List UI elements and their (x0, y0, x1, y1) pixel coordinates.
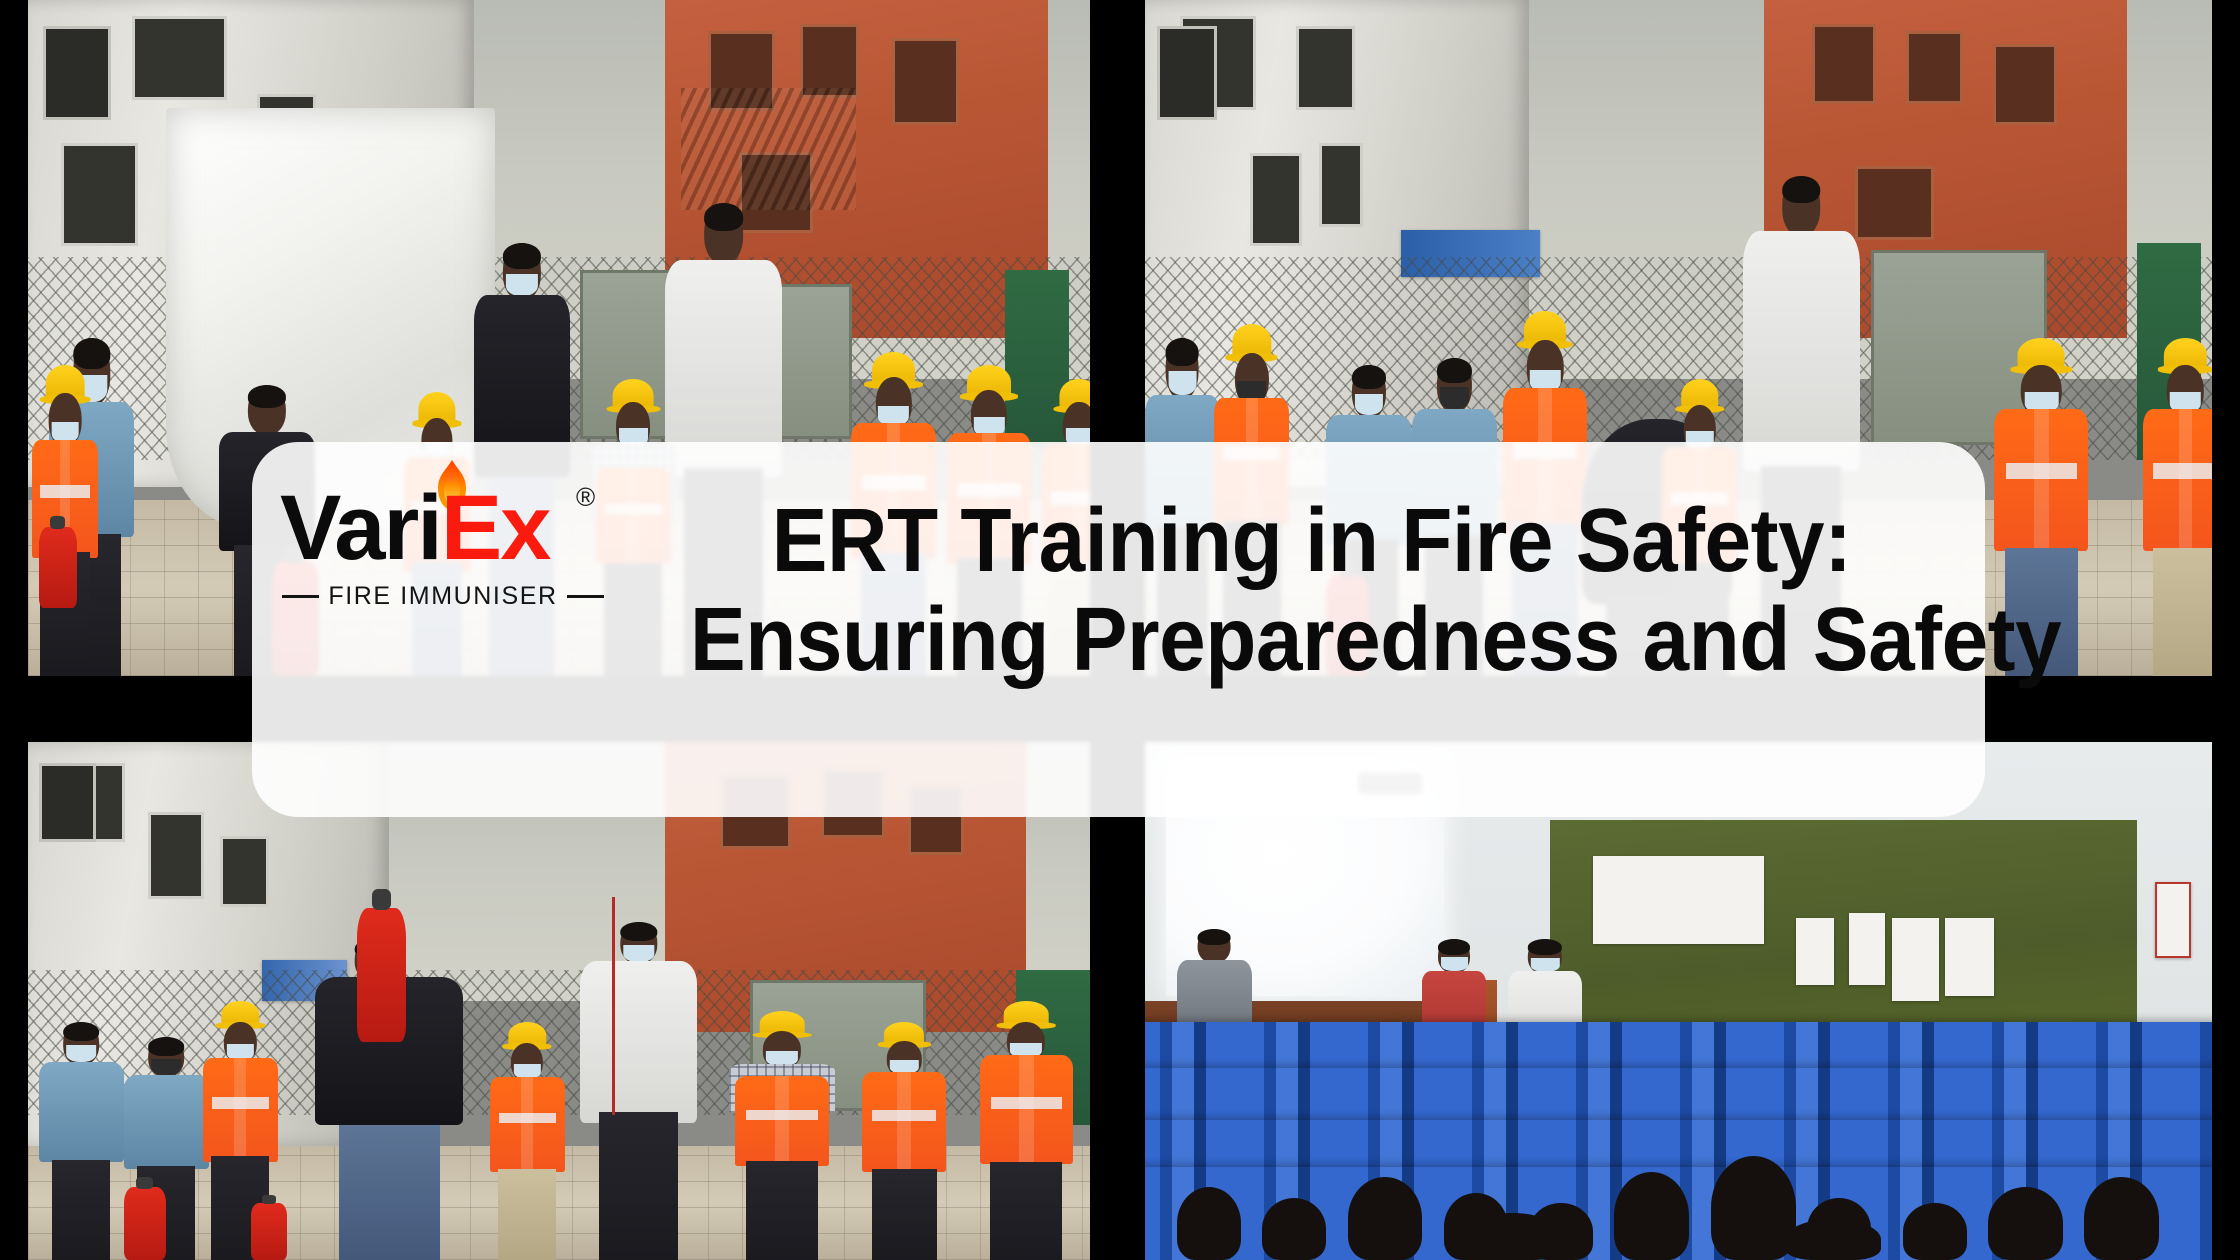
person (973, 1001, 1079, 1260)
title-card: VariEx ® FIRE IMMUNISER ERT Training in … (252, 442, 1985, 817)
person (2137, 338, 2212, 676)
wall-poster (1796, 918, 1834, 985)
person-instructor-raised-arm (580, 908, 697, 1260)
wall-poster (1945, 918, 1994, 996)
audience-head (1348, 1177, 1423, 1260)
audience-head (1262, 1198, 1326, 1260)
person (729, 1011, 835, 1260)
mic-cable (612, 897, 615, 1115)
tagline-rule-left (282, 595, 319, 598)
wall-poster (1849, 913, 1885, 986)
photo-bottom-right (1145, 742, 2212, 1260)
audience-head (1465, 1213, 1561, 1260)
audience-head (1903, 1203, 1967, 1260)
logo-tagline: FIRE IMMUNISER (282, 582, 604, 611)
framed-certificate (2155, 882, 2191, 959)
wall-poster (1593, 856, 1764, 944)
headline-line-1: ERT Training in Fire Safety: (690, 492, 1909, 591)
fire-extinguisher (124, 1187, 166, 1260)
audience-head (2084, 1177, 2159, 1260)
fire-extinguisher (251, 1203, 287, 1260)
banner-root: VariEx ® FIRE IMMUNISER ERT Training in … (0, 0, 2240, 1260)
fire-extinguisher (39, 527, 77, 608)
tagline-rule-right (567, 595, 604, 598)
person (856, 1022, 952, 1260)
person (485, 1022, 570, 1260)
audience-head (1711, 1156, 1796, 1260)
audience-head (1988, 1187, 2063, 1260)
person (39, 1022, 124, 1260)
tagline-text: FIRE IMMUNISER (328, 582, 557, 611)
audience-head (1614, 1172, 1689, 1260)
fire-extinguisher-held (357, 908, 406, 1043)
logo-text-vari: Vari (280, 477, 441, 579)
registered-trademark-symbol: ® (576, 482, 595, 513)
brand-logo: VariEx ® FIRE IMMUNISER (280, 454, 610, 624)
audience-head (1177, 1187, 1241, 1260)
logo-text-ex: Ex (441, 477, 550, 579)
indoor-seminar-scene (1145, 742, 2212, 1260)
page-title: ERT Training in Fire Safety: Ensuring Pr… (690, 492, 1909, 690)
logo-wordmark: VariEx (280, 482, 549, 574)
audience-head (1785, 1219, 1881, 1260)
outdoor-extinguisher-demo-scene (28, 742, 1090, 1260)
photo-bottom-left (28, 742, 1090, 1260)
wall-poster (1892, 918, 1939, 1001)
person (28, 365, 102, 676)
headline-line-2: Ensuring Preparedness and Safety (690, 591, 1909, 690)
